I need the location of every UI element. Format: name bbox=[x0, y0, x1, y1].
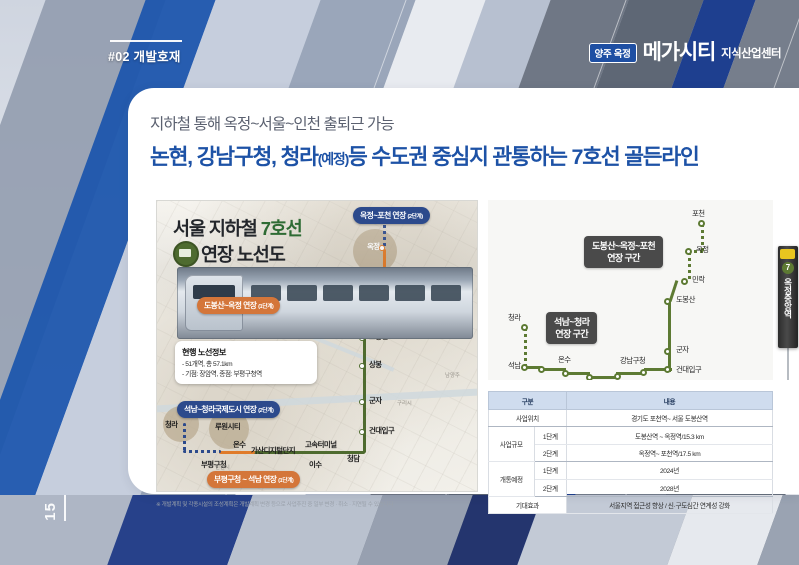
row-open-label: 개통예정 bbox=[489, 462, 535, 497]
map-area-guri: 구리시 bbox=[397, 399, 412, 407]
signpost-left-station-name: 옥정중앙역 bbox=[782, 278, 794, 318]
row-open-value-1: 2024년 bbox=[566, 462, 772, 479]
callout-okjeong-pocheon: 옥정~포천 연장 (2단계) bbox=[353, 207, 430, 224]
table-row-location: 사업위치 경기도 포천역~ 서울 도봉산역 bbox=[489, 410, 773, 427]
page-number: 15 bbox=[42, 502, 59, 521]
route-segment-seongnam-cheongna bbox=[183, 423, 186, 453]
map-label-gunja: 군자 bbox=[369, 395, 382, 406]
signpost-left: 7 옥정중앙역 bbox=[778, 246, 798, 348]
diag-seg-seongnam-cheongna bbox=[524, 328, 527, 368]
map-dot-gunja bbox=[359, 399, 365, 405]
map-label-gasan: 가산디지털단지 bbox=[251, 445, 295, 456]
row-scale-value-2: 옥정역~ 포천역/17.5 km bbox=[566, 444, 772, 461]
line7-schematic-diagram: 포천 옥정 민락 도봉산 군자 건대입구 강남구청 고속터미널 가산디지털단지 … bbox=[488, 200, 773, 380]
table-header-content: 내용 bbox=[566, 392, 772, 410]
diag-label-dobongsan: 도봉산 bbox=[676, 294, 695, 305]
diag-callout-1-line1: 도봉산~옥정~포천 bbox=[592, 240, 655, 252]
title-block: 지하철 통해 옥정~서울~인천 출퇴근 가능 논현, 강남구청, 청라(예정)등… bbox=[150, 112, 699, 171]
train-window-4 bbox=[359, 285, 389, 301]
map-area-incheon: 인천시 bbox=[215, 463, 230, 471]
diag-station-okjeong bbox=[685, 248, 692, 255]
project-summary-table: 구분 내용 사업위치 경기도 포천역~ 서울 도봉산역 사업규모 1단계 도봉산… bbox=[488, 391, 773, 514]
slide-root: #02 개발호재 양주 옥정 메가시티 지식산업센터 지하철 통해 옥정~서울~… bbox=[0, 0, 799, 565]
map-dot-sangbong bbox=[359, 363, 365, 369]
row-open-stage-2: 2단계 bbox=[534, 479, 566, 496]
diag-station-dobongsan bbox=[664, 298, 671, 305]
brand-descriptor: 지식산업센터 bbox=[721, 45, 781, 61]
table-row-effect: 기대효과 서울지역 접근성 향상 / 신·구도심간 연계성 강화 bbox=[489, 496, 773, 513]
page-number-block: 15 bbox=[42, 495, 66, 521]
callout-bupyeong-seongnam: 부평구청 ~ 석남 연장 (1단계) bbox=[207, 471, 300, 488]
diag-label-okjeong: 옥정 bbox=[696, 244, 709, 255]
row-location-label: 사업위치 bbox=[489, 410, 567, 427]
route-map-image: 옥정 민락 도봉산 상봉 군자 건대입구 청담 이수 고속터미널 가산디지털단지… bbox=[156, 200, 478, 492]
diag-callout-seongnam-cheongna: 석남~청라 연장 구간 bbox=[546, 312, 597, 344]
route-segment-cheongna-h bbox=[183, 450, 221, 453]
diag-label-pocheon: 포천 bbox=[692, 208, 705, 219]
diag-station-millak bbox=[681, 278, 688, 285]
diag-callout-1-line2: 연장 구간 bbox=[592, 252, 655, 264]
callout-okjeong-pocheon-text: 옥정~포천 연장 bbox=[360, 211, 406, 220]
current-line-info-box: 현행 노선정보 - 51개역, 총 57.1km - 기점: 장암역, 종점: … bbox=[175, 341, 317, 384]
diag-label-millak: 민락 bbox=[692, 274, 705, 285]
route-segment-bupyeong-seongnam bbox=[219, 451, 255, 454]
map-label-express-bus: 고속터미널 bbox=[305, 439, 337, 450]
row-effect-value: 서울지역 접근성 향상 / 신·구도심간 연계성 강화 bbox=[566, 496, 772, 513]
diag-station-gangnamgu bbox=[640, 369, 647, 376]
info-line-2: - 기점: 장암역, 종점: 부평구청역 bbox=[182, 370, 310, 380]
train-window-5 bbox=[395, 285, 425, 301]
map-heading-line7: 7호선 bbox=[261, 218, 302, 239]
map-dot-konkuk bbox=[359, 429, 365, 435]
callout-bupyeong-seongnam-text: 부평구청 ~ 석남 연장 bbox=[214, 475, 276, 484]
map-label-cheongdam: 청담 bbox=[347, 453, 360, 464]
callout-seongnam-cheongna-stage: (2단계) bbox=[258, 408, 273, 414]
diag-label-cheongna: 청라 bbox=[508, 312, 521, 323]
diag-callout-dobongsan-pocheon: 도봉산~옥정~포천 연장 구간 bbox=[584, 236, 663, 268]
row-scale-stage-1: 1단계 bbox=[534, 427, 566, 444]
diag-label-gunja: 군자 bbox=[676, 344, 689, 355]
row-open-stage-1: 1단계 bbox=[534, 462, 566, 479]
map-label-cheongna: 청라 bbox=[165, 419, 178, 430]
diag-callout-2-line2: 연장 구간 bbox=[554, 328, 589, 340]
section-tab-label: #02 개발호재 bbox=[108, 46, 181, 65]
map-label-isu: 이수 bbox=[309, 459, 322, 470]
callout-dobongsan-okjeong-text: 도봉산~옥정 연장 bbox=[204, 301, 256, 310]
station-signpost-photo: 7 옥정중앙역 7 옥정중앙역 이미지컷 bbox=[778, 238, 799, 383]
diag-station-gasan bbox=[586, 374, 593, 380]
callout-seongnam-cheongna: 석남~청라국제도시 연장 (2단계) bbox=[177, 401, 280, 418]
diag-label-onsu: 온수 bbox=[558, 354, 571, 365]
row-open-value-2: 2028년 bbox=[566, 479, 772, 496]
signpost-left-top-icon bbox=[780, 249, 795, 259]
train-window-2 bbox=[287, 285, 317, 301]
map-heading-line2: 연장 노선도 bbox=[201, 241, 285, 267]
callout-dobongsan-okjeong: 도봉산~옥정 연장 (1단계) bbox=[197, 297, 280, 314]
row-location-value: 경기도 포천역~ 서울 도봉산역 bbox=[566, 410, 772, 427]
route-segment-main-vertical bbox=[363, 337, 366, 453]
diag-station-cheongna bbox=[521, 324, 528, 331]
signpost-left-line-badge: 7 bbox=[782, 262, 794, 274]
subtitle: 지하철 통해 옥정~서울~인천 출퇴근 가능 bbox=[150, 112, 699, 134]
map-heading-line1: 서울 지하철 7호선 bbox=[173, 215, 302, 241]
main-title: 논현, 강남구청, 청라(예정)등 수도권 중심지 관통하는 7호선 골든라인 bbox=[150, 140, 699, 171]
table-header-row: 구분 내용 bbox=[489, 392, 773, 410]
map-label-konkuk: 건대입구 bbox=[369, 425, 394, 436]
content-card: 지하철 통해 옥정~서울~인천 출퇴근 가능 논현, 강남구청, 청라(예정)등… bbox=[128, 88, 799, 494]
brand-name: 메가시티 bbox=[643, 42, 715, 63]
diag-label-konkuk: 건대입구 bbox=[676, 364, 701, 375]
callout-bupyeong-seongnam-stage: (1단계) bbox=[278, 478, 293, 484]
info-line-1: - 51개역, 총 57.1km bbox=[182, 360, 310, 370]
callout-seongnam-cheongna-text: 석남~청라국제도시 연장 bbox=[184, 405, 256, 414]
info-heading: 현행 노선정보 bbox=[182, 346, 310, 358]
callout-dobongsan-okjeong-stage: (1단계) bbox=[258, 304, 273, 310]
main-title-a: 논현, 강남구청, 청라 bbox=[150, 145, 318, 169]
summary-table: 구분 내용 사업위치 경기도 포천역~ 서울 도봉산역 사업규모 1단계 도봉산… bbox=[488, 391, 773, 514]
brand-location-badge: 양주 옥정 bbox=[589, 43, 637, 63]
main-title-b: 등 수도권 중심지 관통하는 7호선 골든라인 bbox=[348, 145, 699, 169]
table-row-scale-1: 사업규모 1단계 도봉산역 ~ 옥정역/15.3 km bbox=[489, 427, 773, 444]
map-heading-text: 서울 지하철 bbox=[173, 218, 261, 239]
map-label-onsu: 온수 bbox=[233, 439, 246, 450]
diag-seg-okjeong-millak bbox=[688, 252, 691, 280]
diag-station-gunja bbox=[664, 348, 671, 355]
diag-station-seongnam bbox=[521, 364, 528, 371]
diag-station-bupyeonggu bbox=[538, 366, 545, 373]
train-window-6 bbox=[431, 285, 461, 301]
main-title-paren: (예정) bbox=[318, 151, 348, 167]
brand-lockup: 양주 옥정 메가시티 지식산업센터 bbox=[589, 42, 781, 63]
diag-label-seongnam: 석남 bbox=[508, 360, 521, 371]
diag-station-pocheon bbox=[698, 220, 705, 227]
table-header-category: 구분 bbox=[489, 392, 567, 410]
table-row-open-1: 개통예정 1단계 2024년 bbox=[489, 462, 773, 479]
header-rule bbox=[110, 40, 182, 42]
map-label-sangbong: 상봉 bbox=[369, 359, 382, 370]
disclaimer-note: ※ 개발계획 및 각종시설의 조성계획은 개발계획 변경 등으로 사업추진 중 … bbox=[156, 500, 393, 508]
diag-label-gangnamgu: 강남구청 bbox=[620, 355, 645, 366]
map-label-luwon: 루원시티 bbox=[215, 421, 240, 432]
signpost-pole-1 bbox=[787, 346, 789, 380]
map-area-namyangju: 남양주 bbox=[445, 371, 460, 379]
diag-station-express bbox=[614, 373, 621, 380]
row-scale-stage-2: 2단계 bbox=[534, 444, 566, 461]
row-scale-label: 사업규모 bbox=[489, 427, 535, 462]
slide-header: #02 개발호재 양주 옥정 메가시티 지식산업센터 bbox=[0, 0, 799, 96]
diag-station-konkuk bbox=[664, 366, 671, 373]
diag-callout-2-line1: 석남~청라 bbox=[554, 316, 589, 328]
callout-okjeong-pocheon-stage: (2단계) bbox=[407, 214, 422, 220]
row-effect-label: 기대효과 bbox=[489, 496, 567, 513]
subway-logo-icon bbox=[173, 241, 199, 267]
train-window-3 bbox=[323, 285, 353, 301]
page-number-rule bbox=[64, 495, 66, 521]
diag-station-onsu bbox=[562, 370, 569, 377]
row-scale-value-1: 도봉산역 ~ 옥정역/15.3 km bbox=[566, 427, 772, 444]
